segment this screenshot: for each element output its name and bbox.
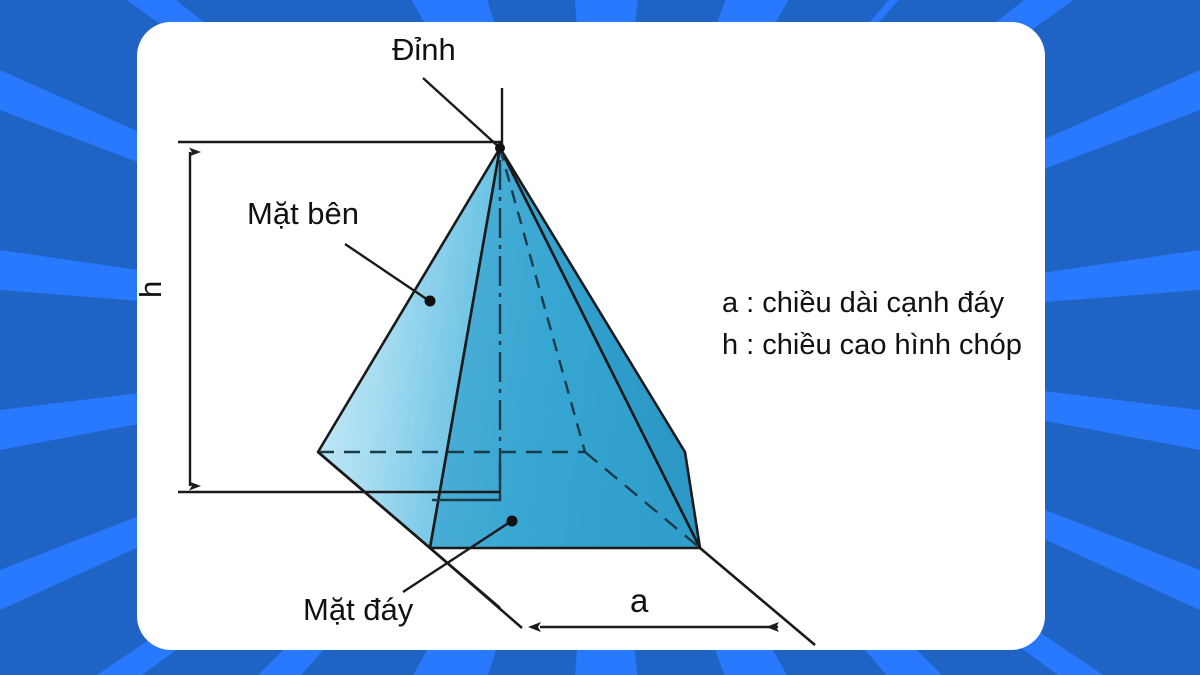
screenshot-root: Đỉnh Mặt bên Mặt đáy a h a : chiều dài c… (0, 0, 1200, 675)
height-label: h (135, 281, 166, 298)
legend: a : chiều dài cạnh đáy h : chiều cao hìn… (722, 282, 1022, 366)
lateral-face-leader (345, 244, 436, 307)
apex-label: Đỉnh (392, 34, 456, 65)
apex-leader-lines (423, 78, 502, 148)
base-face-label: Mặt đáy (303, 594, 413, 625)
legend-line-h: h : chiều cao hình chóp (722, 324, 1022, 366)
base-edge-label: a (630, 584, 648, 617)
lateral-face-label: Mặt bên (247, 198, 359, 229)
legend-line-a: a : chiều dài cạnh đáy (722, 282, 1022, 324)
apex-point (495, 143, 505, 153)
